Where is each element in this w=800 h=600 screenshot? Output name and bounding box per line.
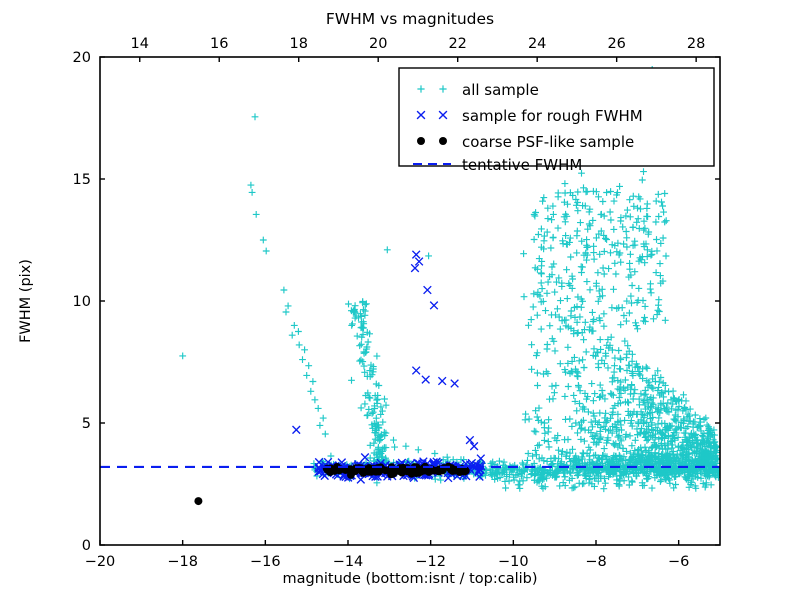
x-tick-label-bottom: −18: [167, 554, 198, 570]
legend-item-label: all sample: [462, 81, 539, 99]
legend-item-label: sample for rough FWHM: [462, 107, 643, 125]
legend[interactable]: all samplesample for rough FWHMcoarse PS…: [399, 68, 714, 174]
x-tick-label-bottom: −20: [85, 554, 116, 570]
x-tick-label-top: 18: [289, 36, 307, 52]
y-tick-label: 15: [73, 172, 91, 188]
x-tick-label-bottom: −12: [415, 554, 446, 570]
x-tick-label-bottom: −6: [668, 554, 689, 570]
legend-item-label: tentative FWHM: [462, 156, 582, 174]
x-tick-label-top: 24: [528, 36, 546, 52]
x-tick-label-bottom: −10: [498, 554, 529, 570]
x-tick-label-top: 14: [131, 36, 149, 52]
chart-title: FWHM vs magnitudes: [326, 10, 494, 28]
y-tick-label: 20: [73, 50, 91, 66]
x-tick-label-top: 16: [210, 36, 228, 52]
legend-item-label: coarse PSF-like sample: [462, 133, 634, 151]
x-tick-label-bottom: −16: [250, 554, 281, 570]
x-tick-label-bottom: −8: [585, 554, 606, 570]
scatter-plot: −20−18−16−14−12−10−8−6 1416182022242628 …: [0, 0, 800, 600]
x-axis-label: magnitude (bottom:isnt / top:calib): [282, 571, 537, 587]
figure-canvas: −20−18−16−14−12−10−8−6 1416182022242628 …: [0, 0, 800, 600]
y-tick-label: 10: [73, 294, 91, 310]
x-tick-label-top: 20: [369, 36, 387, 52]
y-tick-label: 5: [82, 416, 91, 432]
y-tick-label: 0: [82, 538, 91, 554]
x-tick-label-top: 22: [448, 36, 466, 52]
y-axis-label: FWHM (pix): [18, 259, 34, 343]
x-tick-label-bottom: −14: [333, 554, 364, 570]
x-tick-label-top: 28: [687, 36, 705, 52]
x-tick-label-top: 26: [607, 36, 625, 52]
